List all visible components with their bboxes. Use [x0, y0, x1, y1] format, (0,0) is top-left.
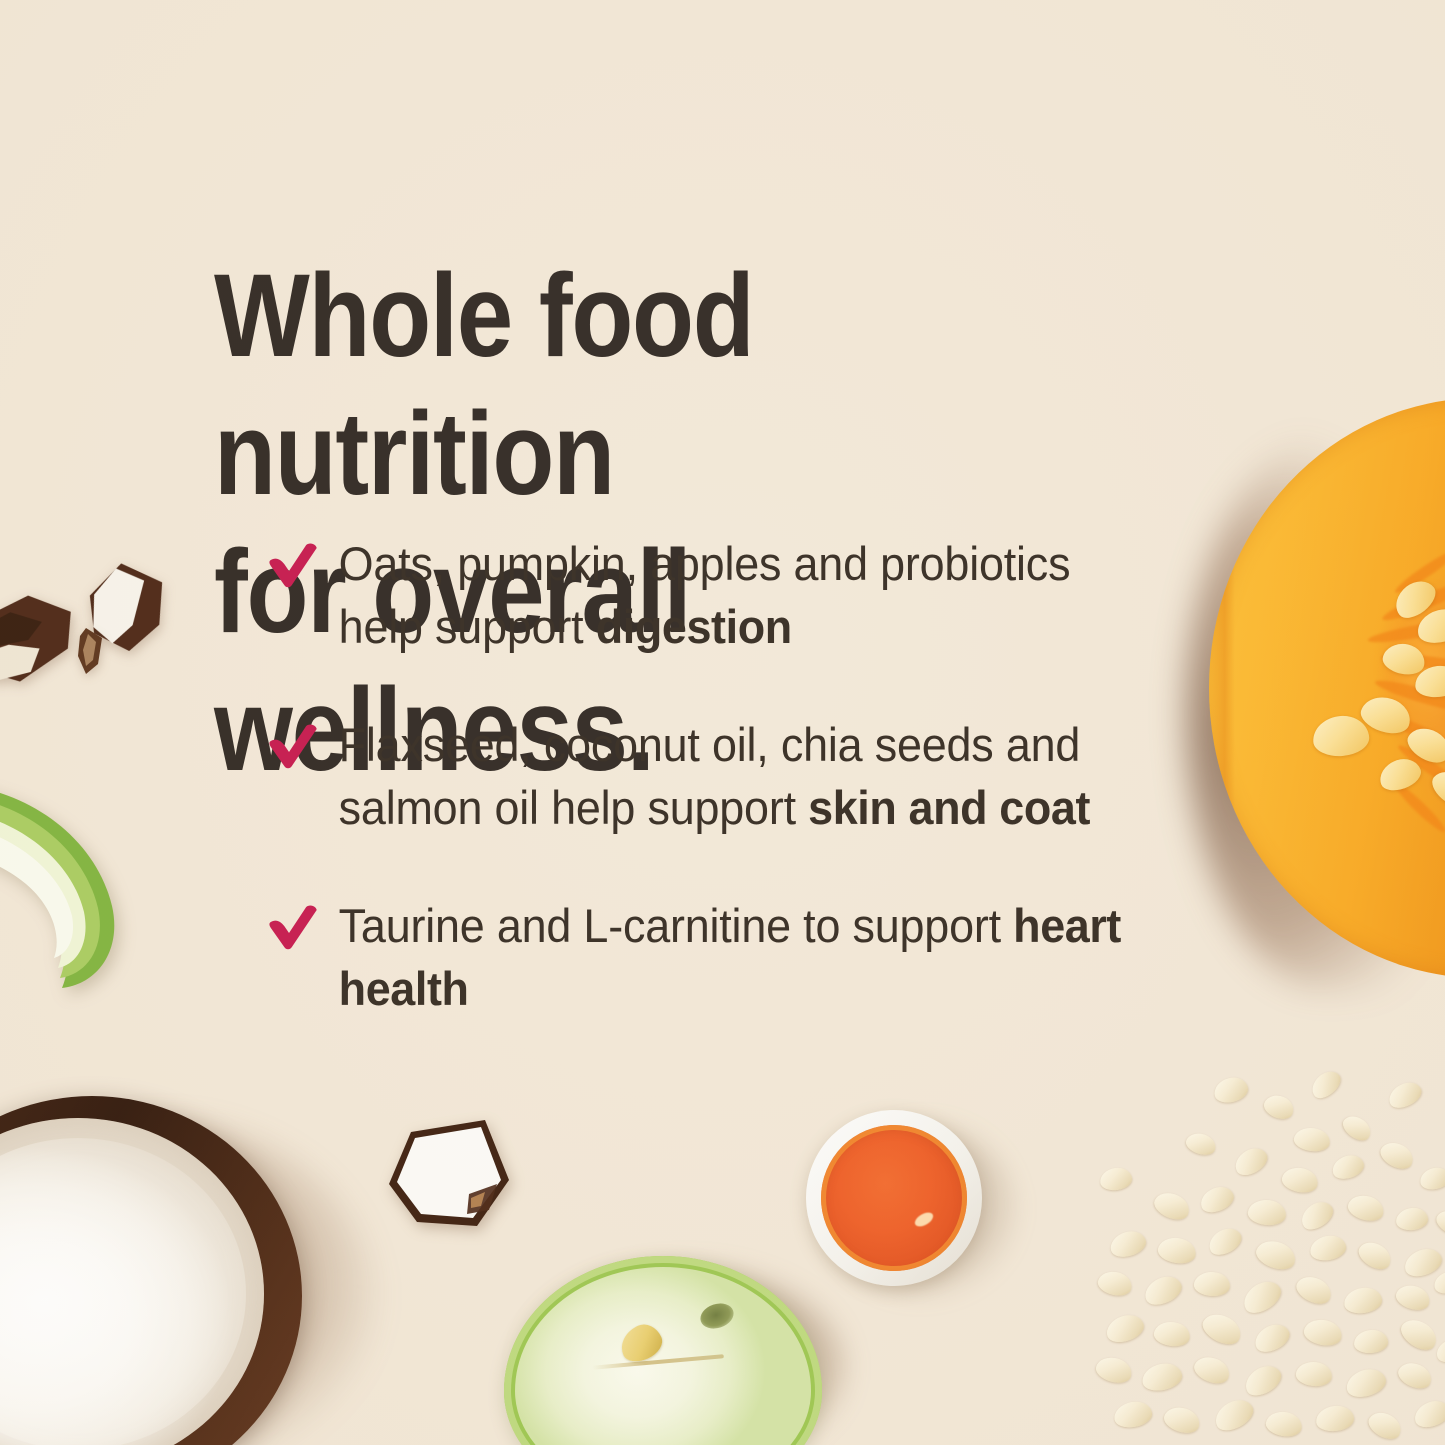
check-icon: [268, 904, 320, 950]
list-item-text-bold: digestion: [596, 600, 792, 653]
salmon-oil-bowl-image: [806, 1110, 982, 1286]
coconut-chunk-image: [381, 1118, 517, 1236]
list-item-text: Taurine and L-carnitine to support heart…: [339, 899, 1121, 1015]
list-item: Flaxseed, coconut oil, chia seeds and sa…: [268, 714, 1156, 839]
list-item-text-regular: Taurine and L-carnitine to support: [339, 899, 1013, 952]
benefits-list: Oats, pumpkin, apples and probiotics hel…: [268, 533, 1198, 1020]
product-feature-banner: Whole food nutrition for overall wellnes…: [0, 0, 1445, 1445]
list-item-text: Oats, pumpkin, apples and probiotics hel…: [339, 537, 1071, 653]
apple-wedge-image: [0, 778, 144, 990]
apple-half-image: [504, 1256, 822, 1445]
pumpkin-rim: [1209, 398, 1235, 978]
list-item: Oats, pumpkin, apples and probiotics hel…: [268, 533, 1156, 658]
list-item-text-bold: skin and coat: [808, 781, 1090, 834]
apple-stem-pit: [697, 1299, 737, 1332]
list-item-text: Flaxseed, coconut oil, chia seeds and sa…: [339, 718, 1090, 834]
check-icon: [268, 542, 320, 588]
apple-core-line: [592, 1354, 724, 1369]
salmon-oil: [821, 1125, 967, 1271]
rolled-oats-image: [1096, 1072, 1445, 1445]
list-item: Taurine and L-carnitine to support heart…: [268, 895, 1156, 1020]
coconut-fragment-large: [0, 585, 88, 691]
check-icon: [268, 723, 320, 769]
coconut-fragment-small: [76, 628, 104, 674]
